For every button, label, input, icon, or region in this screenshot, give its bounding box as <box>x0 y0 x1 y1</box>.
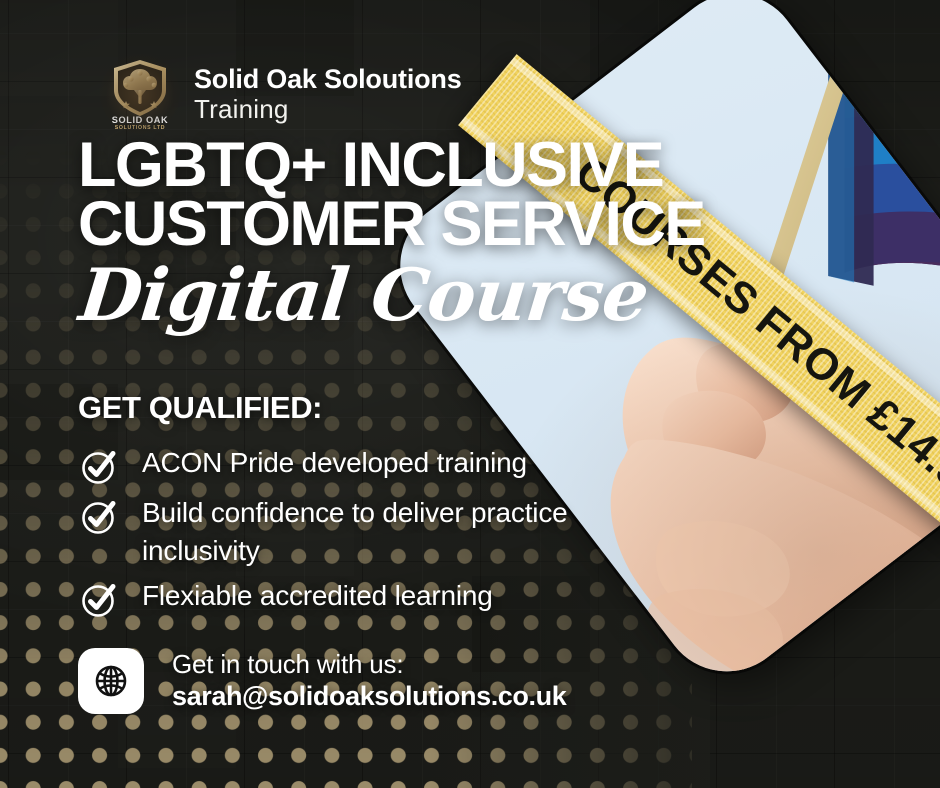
list-item-label: Build confidence to deliver practice inc… <box>142 494 618 571</box>
check-circle-icon <box>78 579 120 621</box>
list-item: ACON Pride developed training <box>78 444 618 488</box>
list-item-label: ACON Pride developed training <box>142 444 527 482</box>
brand-header: SOLID OAK SOLUTIONS LTD Solid Oak Solout… <box>104 56 462 132</box>
list-item-label: Flexiable accredited learning <box>142 577 493 615</box>
check-circle-icon <box>78 496 120 538</box>
brand-tagline: Training <box>194 96 462 123</box>
headline-line-2: CUSTOMER SERVICE <box>78 195 705 254</box>
oak-shield-logo-icon: SOLID OAK SOLUTIONS LTD <box>104 56 176 132</box>
benefits-list: ACON Pride developed training Build conf… <box>78 444 618 627</box>
contact-block: Get in touch with us: sarah@solidoaksolu… <box>78 648 566 714</box>
contact-label: Get in touch with us: <box>172 649 566 681</box>
benefits-heading: GET QUALIFIED: <box>78 390 322 426</box>
poster-canvas: COURSES FROM £14.99 <box>0 0 940 788</box>
headline-script-subtitle: Digital Course <box>76 252 653 337</box>
headline-line-1: LGBTQ+ INCLUSIVE <box>78 136 705 195</box>
logo-glow <box>100 54 180 134</box>
list-item: Flexiable accredited learning <box>78 577 618 621</box>
brand-name: Solid Oak Soloutions <box>194 65 462 93</box>
check-circle-icon <box>78 446 120 488</box>
list-item: Build confidence to deliver practice inc… <box>78 494 618 571</box>
page-title: LGBTQ+ INCLUSIVE CUSTOMER SERVICE <box>78 136 705 253</box>
globe-icon <box>78 648 144 714</box>
contact-email[interactable]: sarah@solidoaksolutions.co.uk <box>172 680 566 713</box>
